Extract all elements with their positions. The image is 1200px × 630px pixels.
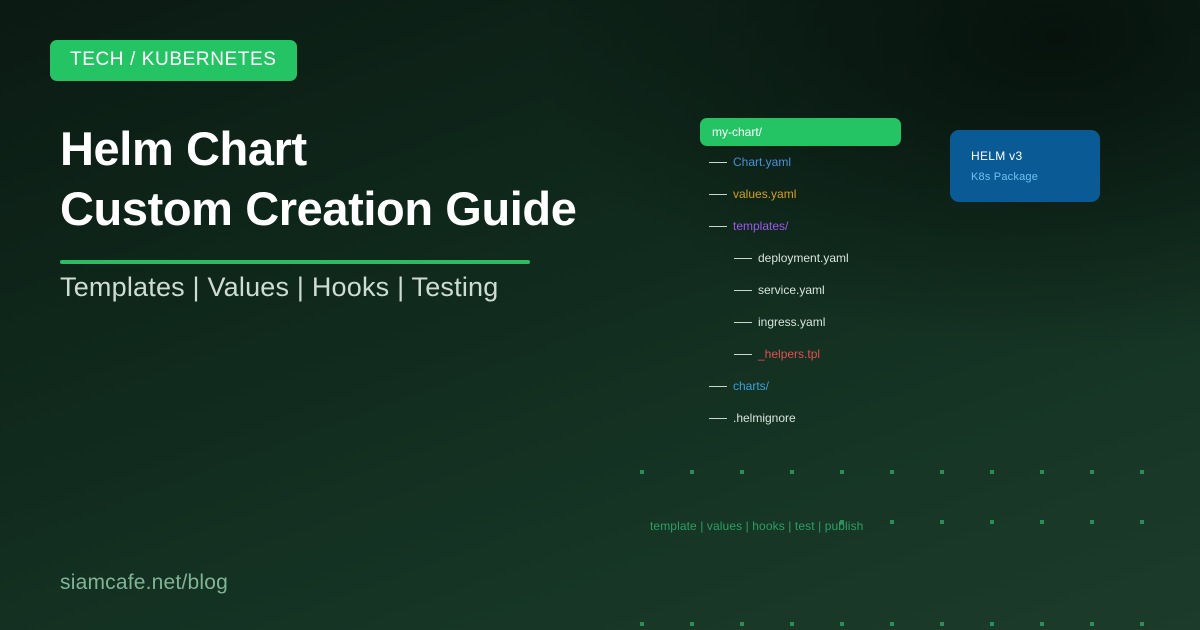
tree-branch-icon — [734, 322, 752, 323]
left-content-column: TECH / KUBERNETES Helm Chart Custom Crea… — [60, 0, 660, 630]
file-tree-row: templates/ — [700, 210, 960, 242]
file-tree-label: templates/ — [733, 219, 788, 233]
file-tree-row: deployment.yaml — [700, 242, 960, 274]
file-tree-label: service.yaml — [758, 283, 825, 297]
file-tree-label: ingress.yaml — [758, 315, 825, 329]
tree-branch-icon — [709, 226, 727, 227]
tree-branch-icon — [709, 418, 727, 419]
file-tree-root: my-chart/ — [700, 118, 901, 146]
helm-version-badge: HELM v3 K8s Package — [950, 130, 1100, 202]
tree-branch-icon — [709, 194, 727, 195]
page-subtitle: Templates | Values | Hooks | Testing — [60, 272, 498, 303]
category-tag: TECH / KUBERNETES — [50, 40, 297, 81]
file-tree-label: deployment.yaml — [758, 251, 849, 265]
helm-badge-title: HELM v3 — [971, 149, 1100, 163]
file-tree-label: values.yaml — [733, 187, 796, 201]
file-tree-label: .helmignore — [733, 411, 796, 425]
file-tree-row: charts/ — [700, 370, 960, 402]
page-title-line-2: Custom Creation Guide — [60, 179, 576, 239]
file-tree-row: _helpers.tpl — [700, 338, 960, 370]
file-tree-row: Chart.yaml — [700, 146, 960, 178]
file-tree-row: .helmignore — [700, 402, 960, 434]
tree-branch-icon — [734, 290, 752, 291]
file-tree-label: Chart.yaml — [733, 155, 791, 169]
file-tree-row: values.yaml — [700, 178, 960, 210]
file-tree: my-chart/ Chart.yamlvalues.yamltemplates… — [700, 118, 960, 434]
file-tree-label: charts/ — [733, 379, 769, 393]
file-tree-items: Chart.yamlvalues.yamltemplates/deploymen… — [700, 146, 960, 434]
file-tree-label: _helpers.tpl — [758, 347, 820, 361]
tree-branch-icon — [709, 162, 727, 163]
tree-branch-icon — [734, 258, 752, 259]
title-divider — [60, 260, 530, 264]
tree-branch-icon — [709, 386, 727, 387]
footer-site-url: siamcafe.net/blog — [60, 571, 228, 595]
file-tree-row: service.yaml — [700, 274, 960, 306]
file-tree-row: ingress.yaml — [700, 306, 960, 338]
page-title: Helm Chart Custom Creation Guide — [60, 119, 576, 239]
keywords-strip: template | values | hooks | test | publi… — [650, 519, 863, 533]
tree-branch-icon — [734, 354, 752, 355]
page-title-line-1: Helm Chart — [60, 119, 576, 179]
helm-badge-subtitle: K8s Package — [971, 171, 1100, 183]
